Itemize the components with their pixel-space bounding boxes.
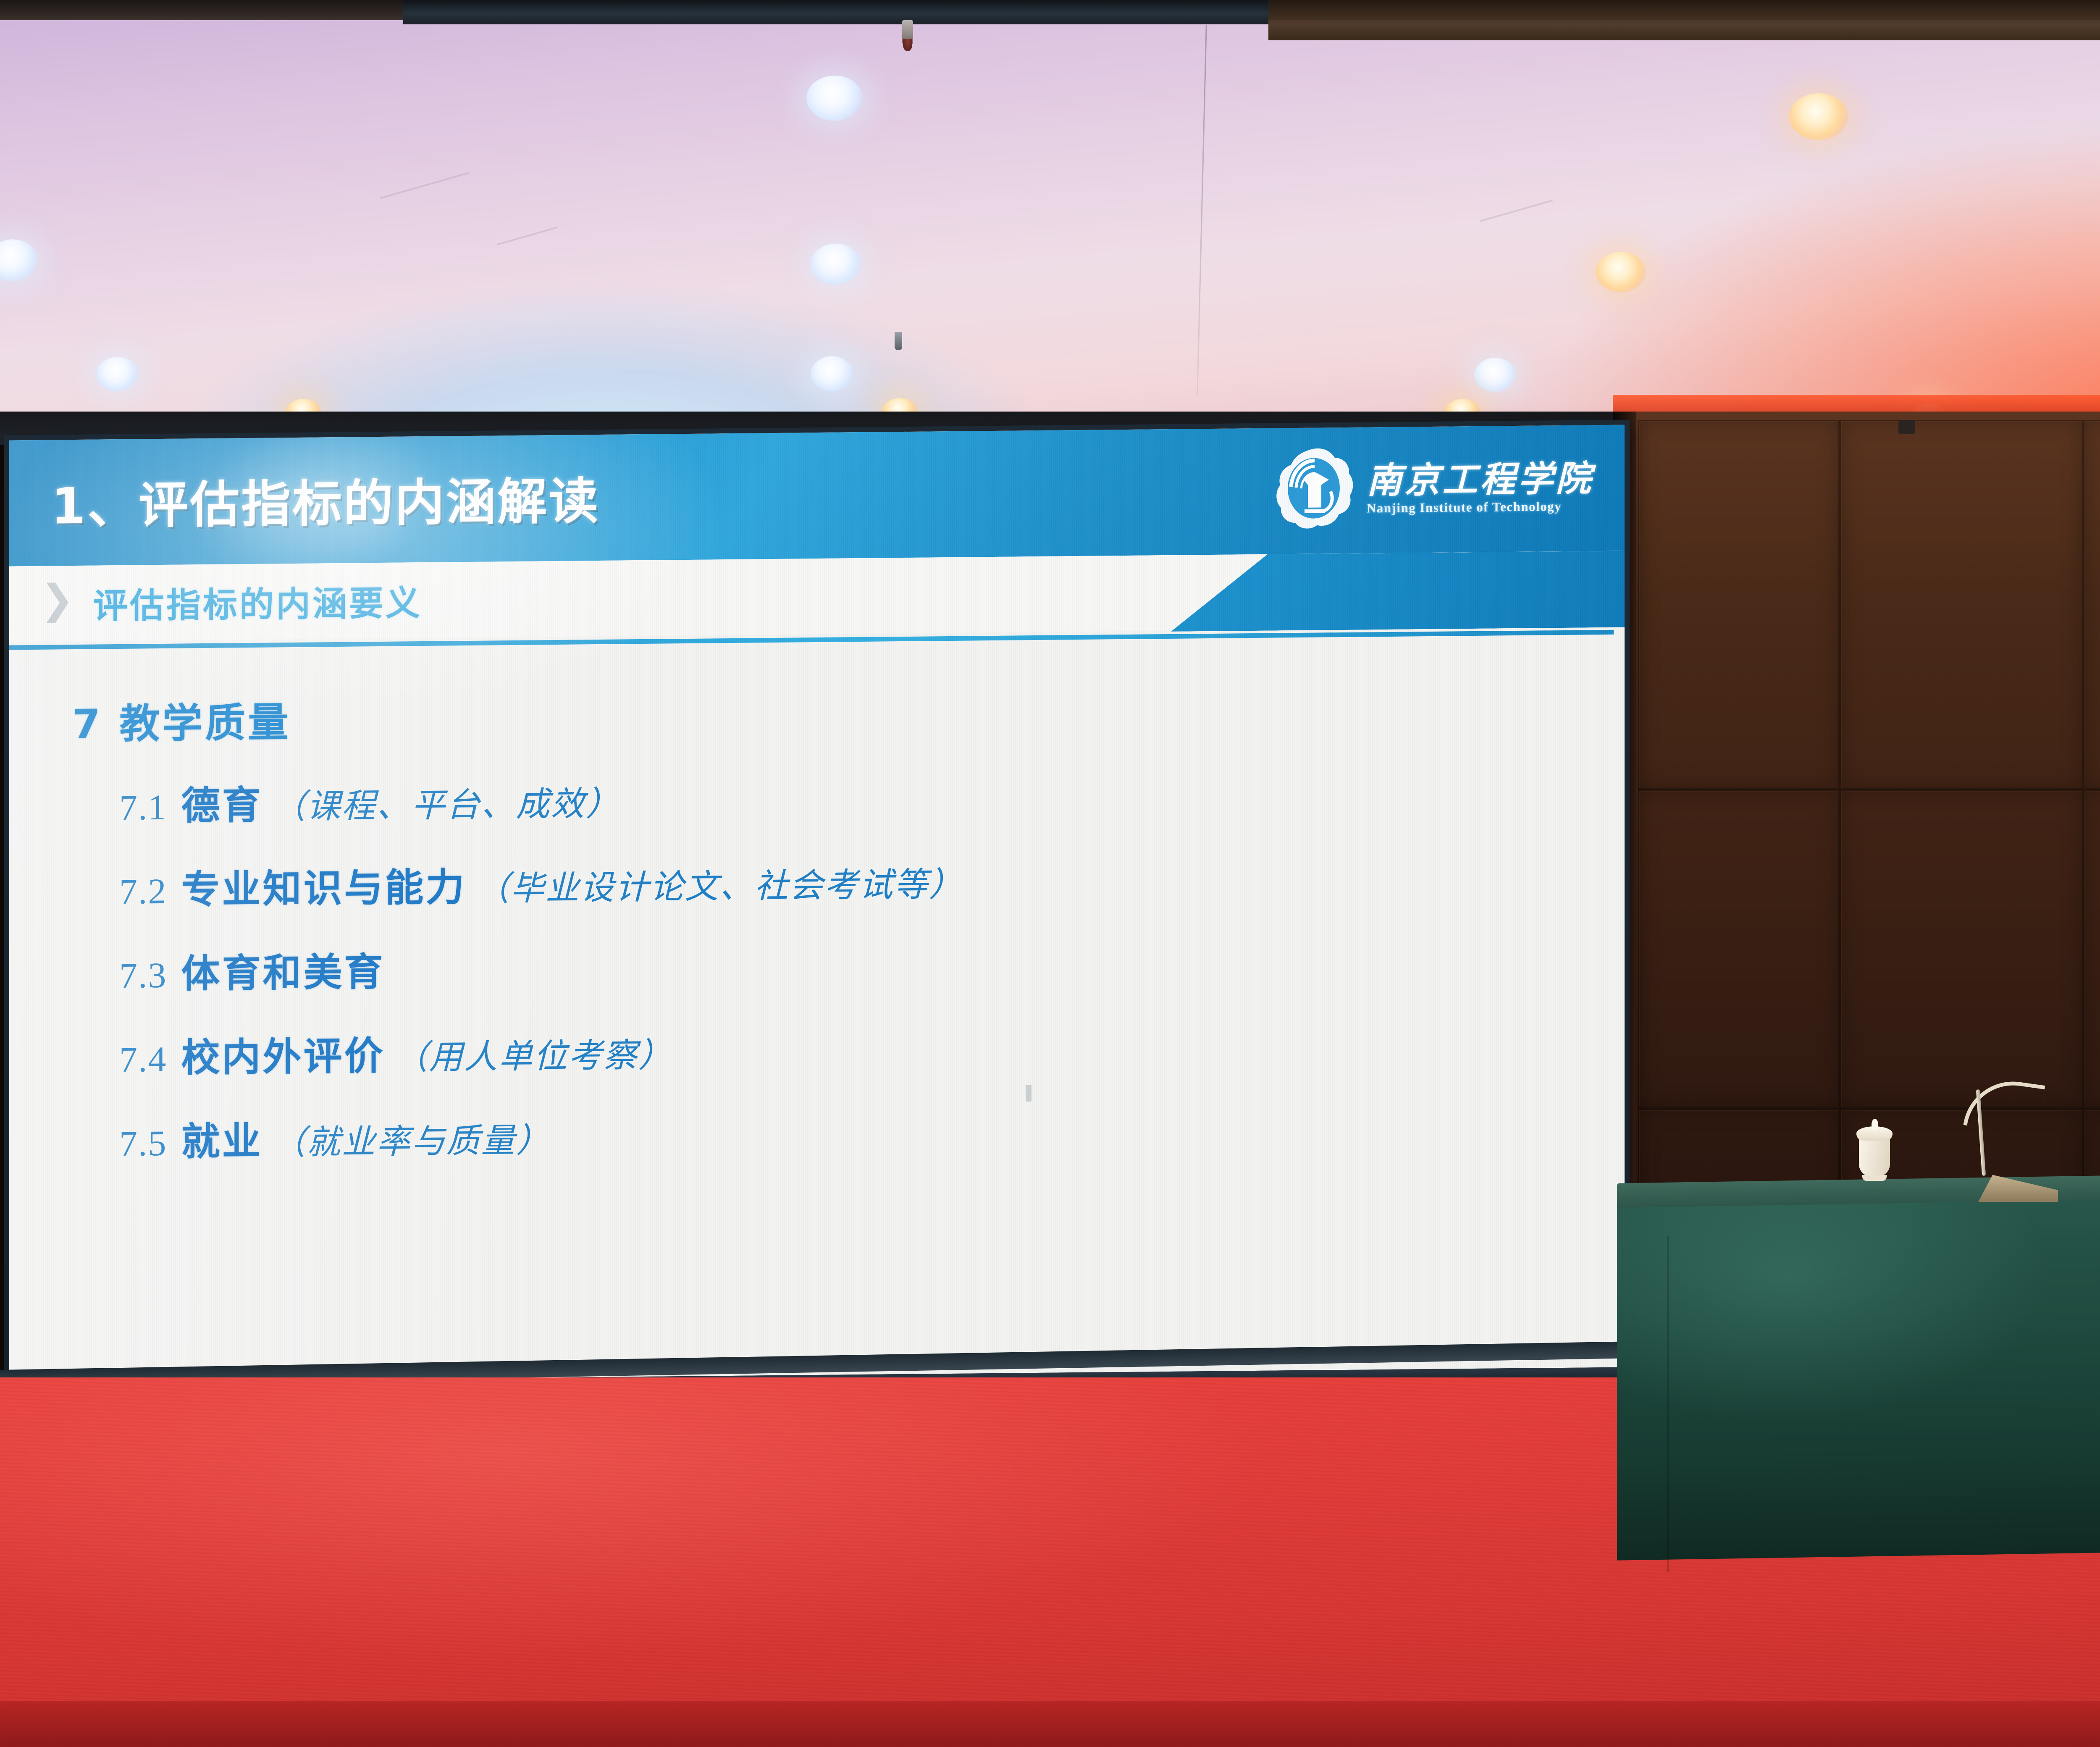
slide-bullet-list: 7.1 德育 （课程、平台、成效） 7.2 专业知识与能力 （毕业设计论文、社会… [119, 761, 1547, 1195]
wall-panel [1638, 420, 1840, 790]
ceiling-scuff [380, 172, 469, 199]
list-item: 7.3 体育和美育 [119, 929, 1547, 1027]
bullet-number: 7.5 [119, 1122, 167, 1165]
table-cloth-skirt [1617, 1193, 2100, 1560]
wall-panel [1840, 420, 2083, 790]
stage-front-apron [0, 1701, 2100, 1747]
bullet-number: 7.1 [119, 786, 167, 829]
sprinkler-head-icon [902, 20, 913, 46]
ceiling-soffit-right [1268, 0, 2100, 40]
bullet-number: 7.2 [119, 870, 167, 913]
university-logo: 南京工程学院 Nanjing Institute of Technology [1272, 443, 1593, 534]
ceiling-downlight [806, 76, 863, 121]
ceiling-seam [1197, 25, 1207, 395]
ceiling-downlight [811, 244, 861, 285]
ceiling-downlight [1474, 358, 1516, 392]
nit-crest-icon [1272, 446, 1356, 534]
tea-cup-body [1859, 1136, 1890, 1177]
slide-section-heading: 7 教学质量 [72, 690, 291, 750]
list-item: 7.1 德育 （课程、平台、成效） [119, 761, 1547, 859]
ceiling [0, 0, 2100, 424]
bullet-number: 7.3 [119, 954, 167, 997]
ceiling-downlight [1789, 93, 1848, 140]
bullet-label: 就业 [181, 1110, 263, 1167]
bullet-label: 校内外评价 [181, 1025, 385, 1083]
chevron-right-icon: ❯ [40, 582, 65, 626]
bullet-label: 专业知识与能力 [181, 856, 467, 915]
bullet-number: 7.4 [119, 1038, 167, 1081]
desk-microphone [1940, 1075, 2066, 1209]
ceiling-downlight [97, 357, 139, 391]
wall-speaker-icon [1898, 420, 1915, 434]
university-name-en: Nanjing Institute of Technology [1367, 498, 1593, 516]
mouse-cursor-icon [1026, 1085, 1032, 1102]
ceiling-scuff [1480, 199, 1553, 222]
ceiling-soffit-left [403, 0, 1268, 24]
cloth-fold [1667, 1236, 1669, 1572]
list-item: 7.2 专业知识与能力 （毕业设计论文、社会考试等） [119, 845, 1547, 943]
wall-panel [2083, 420, 2100, 790]
tea-cup-foot [1862, 1175, 1887, 1181]
sprinkler-head-icon [895, 332, 902, 350]
presenter-table [1617, 1176, 2100, 1571]
university-name-cn: 南京工程学院 [1367, 461, 1593, 498]
bullet-label: 体育和美育 [181, 941, 385, 999]
list-item: 7.5 就业 （就业率与质量） [119, 1097, 1547, 1195]
wall-panel [1840, 790, 2083, 1109]
ceiling-downlight [0, 239, 38, 281]
bullet-detail: （用人单位考察） [394, 1028, 673, 1079]
presenter-person [2096, 920, 2100, 1209]
slide-subtitle: 评估指标的内涵要义 [93, 575, 422, 628]
bullet-detail: （毕业设计论文、社会考试等） [476, 857, 964, 910]
tea-cup-knob [1872, 1119, 1878, 1131]
wall-panel [1638, 790, 1840, 1109]
microphone-gooseneck [1963, 1075, 2045, 1136]
ceiling-downlight [1596, 252, 1646, 292]
ceiling-scuff [496, 226, 557, 245]
ceiling-downlight [811, 356, 853, 391]
bullet-detail: （课程、平台、成效） [272, 776, 621, 828]
slide-title: 1、评估指标的内涵解读 [51, 461, 600, 538]
list-item: 7.4 校内外评价 （用人单位考察） [119, 1013, 1547, 1111]
bullet-detail: （就业率与质量） [272, 1113, 551, 1164]
projection-screen-frame: 1、评估指标的内涵解读 [4, 420, 1630, 1401]
tea-cup [1856, 1119, 1893, 1182]
presentation-scene: 消防栓箱 1、评估指标的内涵解读 [0, 0, 2100, 1747]
slide-header-band: 1、评估指标的内涵解读 [9, 425, 1625, 567]
projection-screen: 1、评估指标的内涵解读 [9, 425, 1625, 1383]
bullet-label: 德育 [181, 774, 263, 831]
university-logo-text: 南京工程学院 Nanjing Institute of Technology [1367, 461, 1593, 516]
microphone-base [1978, 1173, 2058, 1202]
